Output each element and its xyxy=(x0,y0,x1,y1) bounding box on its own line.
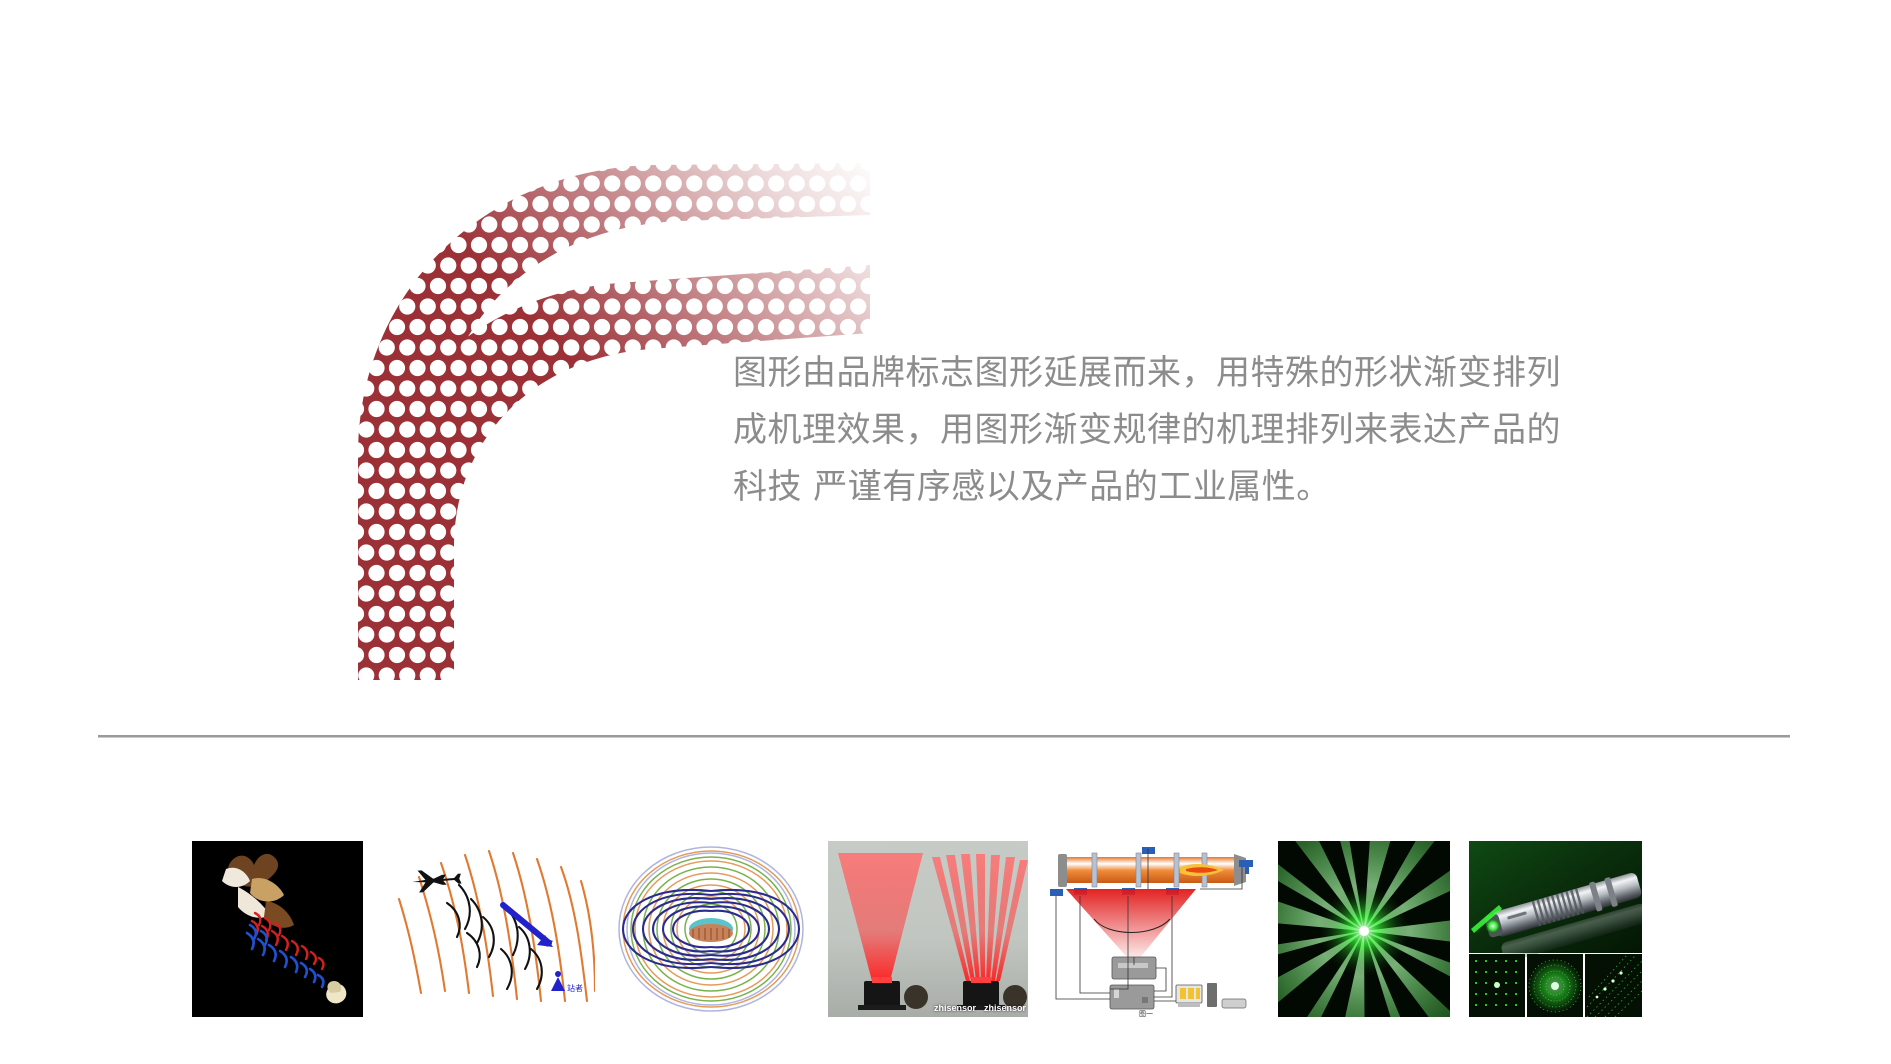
reference-image-strip: 站者 xyxy=(192,841,1694,1017)
signal-processor-box xyxy=(1110,985,1154,1009)
sensor-system-diagram-icon: 图一 xyxy=(1050,841,1262,1017)
description-line-3: 科技 严谨有序感以及产品的工业属性。 xyxy=(733,459,1613,516)
thumbnail-green-laser-burst[interactable] xyxy=(1278,841,1450,1017)
magnetic-dipole-icon xyxy=(613,841,810,1017)
aircraft-doppler-icon: 站者 xyxy=(385,841,595,1017)
section-divider xyxy=(98,735,1790,738)
thumbnail-sensor-system-diagram[interactable]: 图一 xyxy=(1050,841,1262,1017)
thumbnail-bat-echolocation[interactable] xyxy=(192,841,363,1017)
description-line-2: 成机理效果，用图形渐变规律的机理排列来表达产品的 xyxy=(733,402,1613,459)
description-line-1: 图形由品牌标志图形延展而来，用特殊的形状渐变排列 xyxy=(733,345,1613,402)
thumbnail-green-laser-pointer[interactable] xyxy=(1469,841,1642,1017)
watermark-zhisensor-1: zhisensor xyxy=(934,1003,976,1013)
description-paragraph: 图形由品牌标志图形延展而来，用特殊的形状渐变排列 成机理效果，用图形渐变规律的机… xyxy=(733,345,1613,516)
green-laser-pointer-icon xyxy=(1469,841,1642,1017)
thumbnail-magnetic-dipole[interactable] xyxy=(613,841,810,1017)
thumbnail-aircraft-doppler[interactable]: 站者 xyxy=(385,841,595,1017)
green-laser-burst-icon xyxy=(1278,841,1450,1017)
diagram-caption: 图一 xyxy=(1139,1010,1153,1017)
bat-echolocation-icon xyxy=(192,841,363,1017)
red-laser-projector-icon xyxy=(828,841,1028,1017)
laser-pattern-samples xyxy=(1469,954,1642,1017)
thumbnail-red-line-laser[interactable]: zhisensor zhisensor xyxy=(828,841,1028,1017)
svg-text:站者: 站者 xyxy=(567,983,583,993)
watermark-zhisensor-2: zhisensor xyxy=(984,1003,1026,1013)
